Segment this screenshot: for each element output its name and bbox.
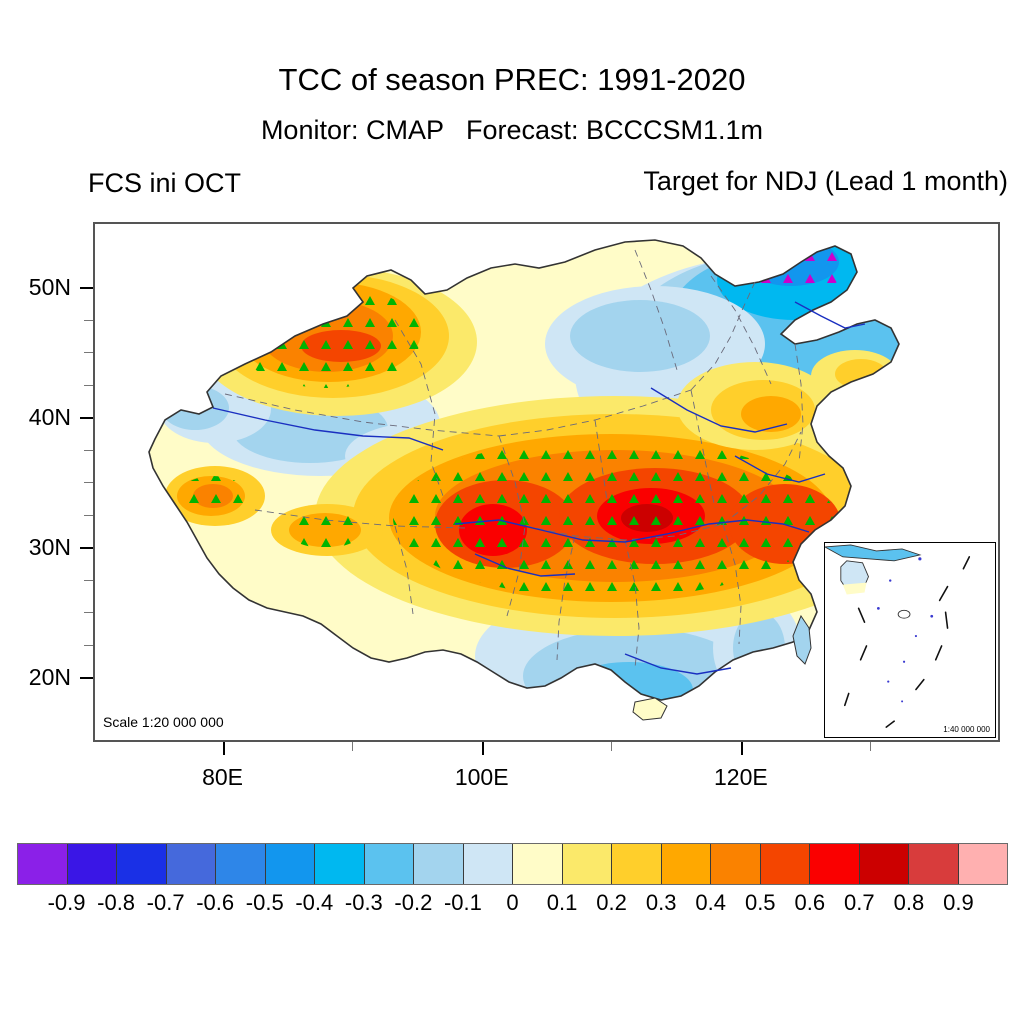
colorbar-tick--0.7: -0.7 [147, 890, 185, 916]
colorbar-swatch-2 [117, 844, 167, 884]
target-label: Target for NDJ (Lead 1 month) [643, 166, 1008, 197]
lon-tick-90 [352, 742, 353, 751]
colorbar-swatch-12 [612, 844, 662, 884]
lat-label-30N: 30N [0, 534, 71, 561]
lon-tick-110 [611, 742, 612, 751]
colorbar-tick--0.9: -0.9 [48, 890, 86, 916]
lat-tick-40 [80, 417, 93, 419]
colorbar-tick-labels: -0.9-0.8-0.7-0.6-0.5-0.4-0.3-0.2-0.100.1… [17, 890, 1008, 924]
colorbar-tick-0.9: 0.9 [943, 890, 974, 916]
colorbar-swatch-18 [909, 844, 959, 884]
inset-scale-caption: 1:40 000 000 [943, 725, 990, 734]
colorbar-tick--0.2: -0.2 [394, 890, 432, 916]
colorbar-tick-0.1: 0.1 [547, 890, 578, 916]
page-title: TCC of season PREC: 1991-2020 [0, 62, 1024, 98]
latitude-axis: 50N40N30N20N [0, 222, 93, 742]
fcs-ini-label: FCS ini OCT [88, 168, 241, 199]
lat-tick-32.5 [84, 515, 93, 516]
map-scale-caption: Scale 1:20 000 000 [103, 714, 224, 730]
colorbar-swatch-15 [761, 844, 811, 884]
lon-tick-130 [870, 742, 871, 751]
lon-tick-120 [741, 742, 743, 755]
lat-tick-30 [80, 547, 93, 549]
colorbar-tick-0.3: 0.3 [646, 890, 677, 916]
lon-label-120E: 120E [714, 764, 768, 791]
colorbar-tick-0.4: 0.4 [695, 890, 726, 916]
colorbar-swatch-4 [216, 844, 266, 884]
lon-tick-100 [482, 742, 484, 755]
map-plot-area: Scale 1:20 000 000 [93, 222, 1000, 742]
longitude-axis: 80E100E120E [93, 742, 1000, 812]
lat-label-50N: 50N [0, 274, 71, 301]
lat-tick-22.5 [84, 645, 93, 646]
lat-tick-45 [84, 352, 93, 353]
colorbar-swatches [17, 843, 1008, 885]
lat-tick-47.5 [84, 320, 93, 321]
lat-tick-27.5 [84, 580, 93, 581]
colorbar-swatch-14 [711, 844, 761, 884]
lat-label-20N: 20N [0, 664, 71, 691]
climate-map-figure: TCC of season PREC: 1991-2020 Monitor: C… [0, 0, 1024, 1024]
colorbar-swatch-13 [662, 844, 712, 884]
colorbar-tick--0.1: -0.1 [444, 890, 482, 916]
lat-tick-25 [84, 612, 93, 613]
colorbar-swatch-17 [860, 844, 910, 884]
colorbar-swatch-5 [266, 844, 316, 884]
colorbar-swatch-19 [959, 844, 1008, 884]
colorbar-tick--0.8: -0.8 [97, 890, 135, 916]
lat-tick-37.5 [84, 450, 93, 451]
lat-tick-42.5 [84, 385, 93, 386]
forecast-label: Forecast: BCCCSM1.1m [466, 115, 763, 145]
lon-tick-80 [223, 742, 225, 755]
colorbar-swatch-11 [563, 844, 613, 884]
colorbar-swatch-9 [464, 844, 514, 884]
colorbar-tick--0.3: -0.3 [345, 890, 383, 916]
monitor-label: Monitor: CMAP [261, 115, 444, 145]
colorbar [17, 843, 1008, 885]
lon-label-100E: 100E [455, 764, 509, 791]
colorbar-swatch-1 [68, 844, 118, 884]
colorbar-swatch-7 [365, 844, 415, 884]
colorbar-swatch-3 [167, 844, 217, 884]
colorbar-tick--0.5: -0.5 [246, 890, 284, 916]
lon-label-80E: 80E [202, 764, 243, 791]
colorbar-tick--0.4: -0.4 [295, 890, 333, 916]
colorbar-swatch-10 [513, 844, 563, 884]
south-china-sea-inset: 1:40 000 000 [824, 542, 996, 738]
colorbar-tick-0.7: 0.7 [844, 890, 875, 916]
colorbar-tick--0.6: -0.6 [196, 890, 234, 916]
colorbar-swatch-16 [810, 844, 860, 884]
subtitle-row: Monitor: CMAPForecast: BCCCSM1.1m [0, 115, 1024, 146]
lat-label-40N: 40N [0, 404, 71, 431]
colorbar-swatch-0 [18, 844, 68, 884]
lat-tick-35 [84, 482, 93, 483]
colorbar-tick-0.2: 0.2 [596, 890, 627, 916]
lat-tick-20 [80, 677, 93, 679]
colorbar-tick-0.8: 0.8 [894, 890, 925, 916]
colorbar-swatch-8 [414, 844, 464, 884]
colorbar-tick-0.6: 0.6 [795, 890, 826, 916]
lat-tick-50 [80, 287, 93, 289]
colorbar-tick-0.5: 0.5 [745, 890, 776, 916]
colorbar-tick-0: 0 [506, 890, 518, 916]
colorbar-swatch-6 [315, 844, 365, 884]
